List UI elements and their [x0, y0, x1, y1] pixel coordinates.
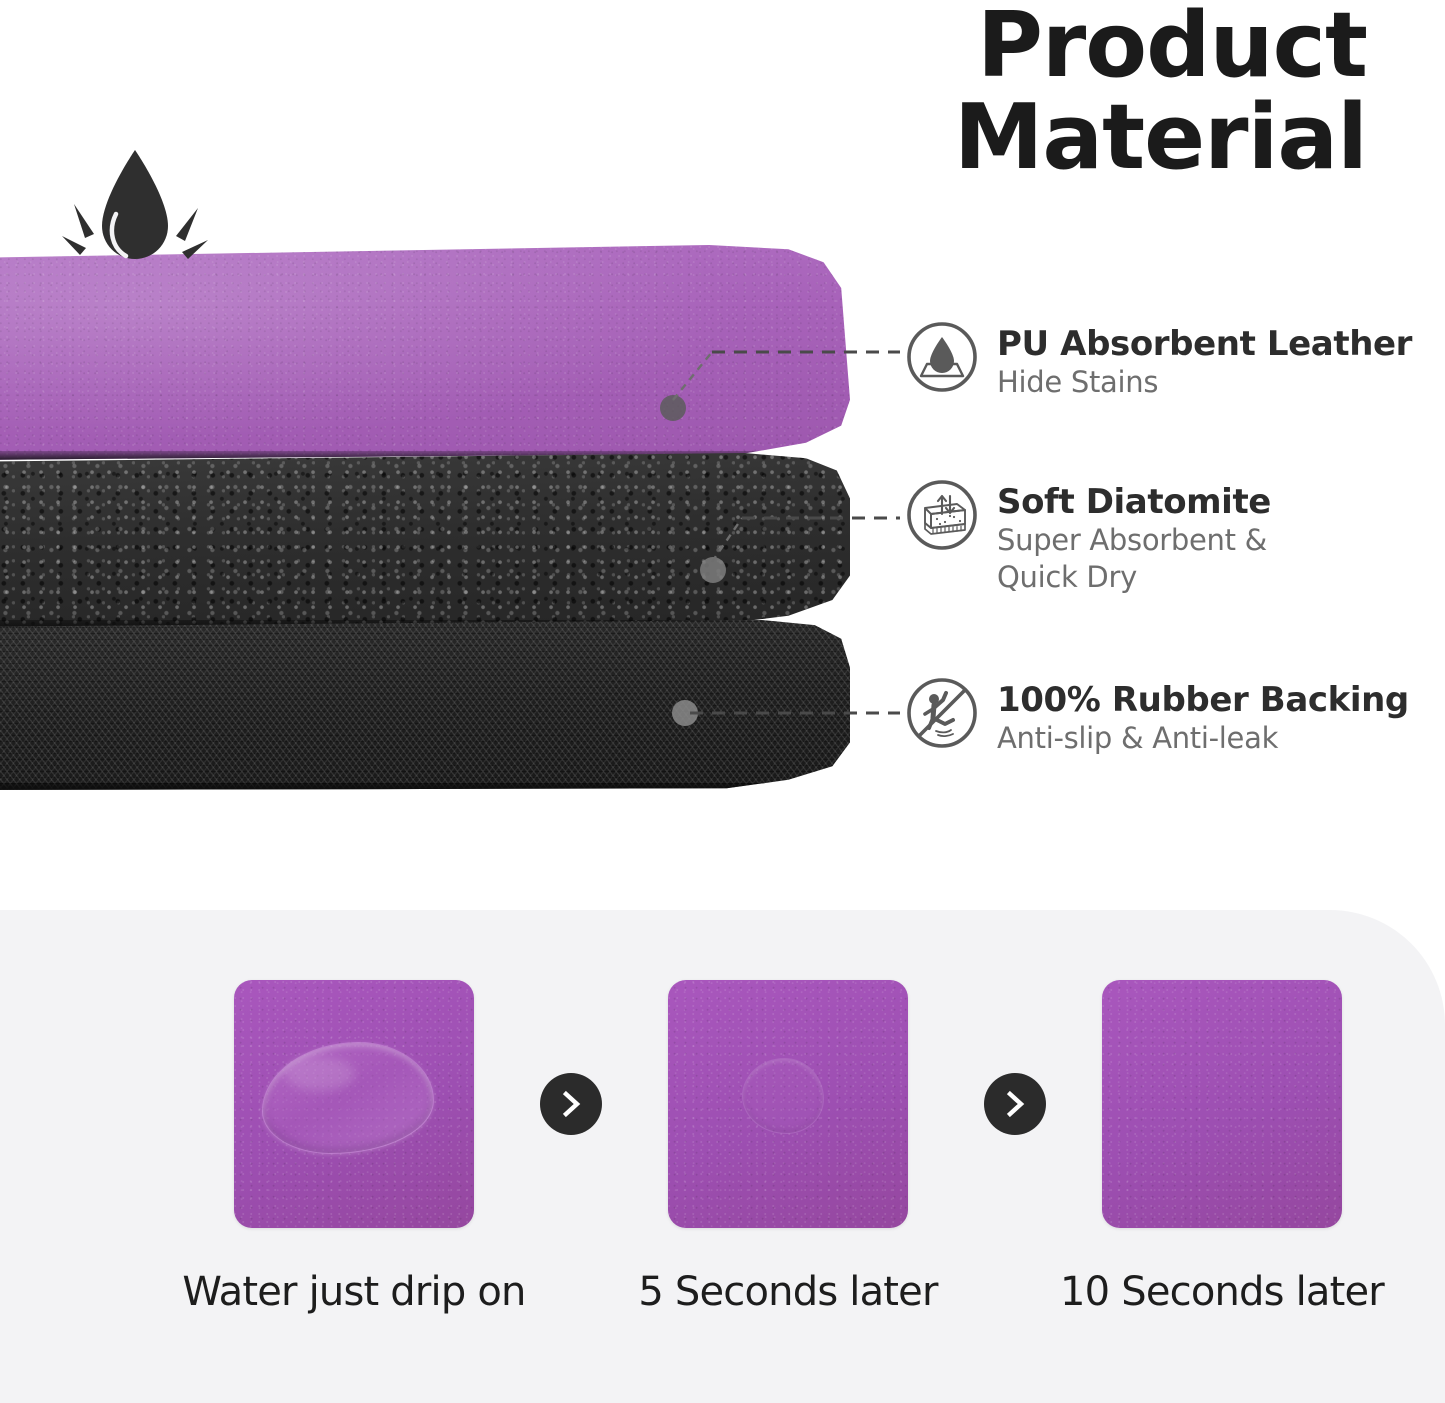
anchor-dot-rubber [672, 700, 698, 726]
feature-title-rubber-backing: 100% Rubber Backing [997, 680, 1409, 720]
feature-subtitle-rubber-backing: Anti-slip & Anti-leak [997, 720, 1409, 757]
feature-text-rubber-backing: 100% Rubber Backing Anti-slip & Anti-lea… [997, 676, 1409, 757]
step-arrow-2 [984, 1073, 1046, 1135]
mat-layer-stack [0, 245, 850, 765]
diatomite-texture [0, 453, 850, 628]
water-splash-drop-icon [52, 142, 218, 292]
feature-title-pu-leather: PU Absorbent Leather [997, 324, 1412, 364]
feature-subtitle-pu-leather: Hide Stains [997, 364, 1412, 401]
no-slip-person-falling-icon [905, 676, 979, 750]
title-line-2: Material [747, 92, 1367, 184]
tile-leather-texture [1102, 980, 1342, 1228]
feature-callout-pu-leather: PU Absorbent Leather Hide Stains [905, 320, 1412, 401]
feature-text-pu-leather: PU Absorbent Leather Hide Stains [997, 320, 1412, 401]
rubber-edge [0, 783, 850, 790]
chevron-right-icon [1000, 1089, 1030, 1119]
mat-layer-rubber-backing [0, 620, 850, 790]
feature-callout-rubber-backing: 100% Rubber Backing Anti-slip & Anti-lea… [905, 676, 1409, 757]
demo-tile-5-seconds [668, 980, 908, 1228]
product-material-infographic: Product Material [0, 0, 1445, 1403]
title-line-1: Product [747, 0, 1367, 92]
water-drop-on-mat-icon [905, 320, 979, 394]
demo-caption-3: 10 Seconds later [1022, 1268, 1422, 1316]
demo-tile-water-drip-on [234, 980, 474, 1228]
water-damp-mark-small [742, 1058, 824, 1134]
demo-caption-2: 5 Seconds later [588, 1268, 988, 1316]
rubber-weave-texture [0, 620, 850, 790]
feature-title-diatomite: Soft Diatomite [997, 482, 1271, 522]
diatomite-absorb-evaporate-icon [905, 478, 979, 552]
demo-caption-1: Water just drip on [154, 1268, 554, 1316]
mat-layer-diatomite [0, 453, 850, 628]
page-title: Product Material [747, 0, 1367, 184]
feature-text-diatomite: Soft Diatomite Super Absorbent & Quick D… [997, 478, 1271, 596]
feature-subtitle-diatomite: Super Absorbent & Quick Dry [997, 522, 1271, 596]
feature-callout-diatomite: Soft Diatomite Super Absorbent & Quick D… [905, 478, 1271, 596]
anchor-dot-diatomite [700, 557, 726, 583]
chevron-right-icon [556, 1089, 586, 1119]
step-arrow-1 [540, 1073, 602, 1135]
demo-tile-10-seconds [1102, 980, 1342, 1228]
anchor-dot-pu-leather [660, 395, 686, 421]
